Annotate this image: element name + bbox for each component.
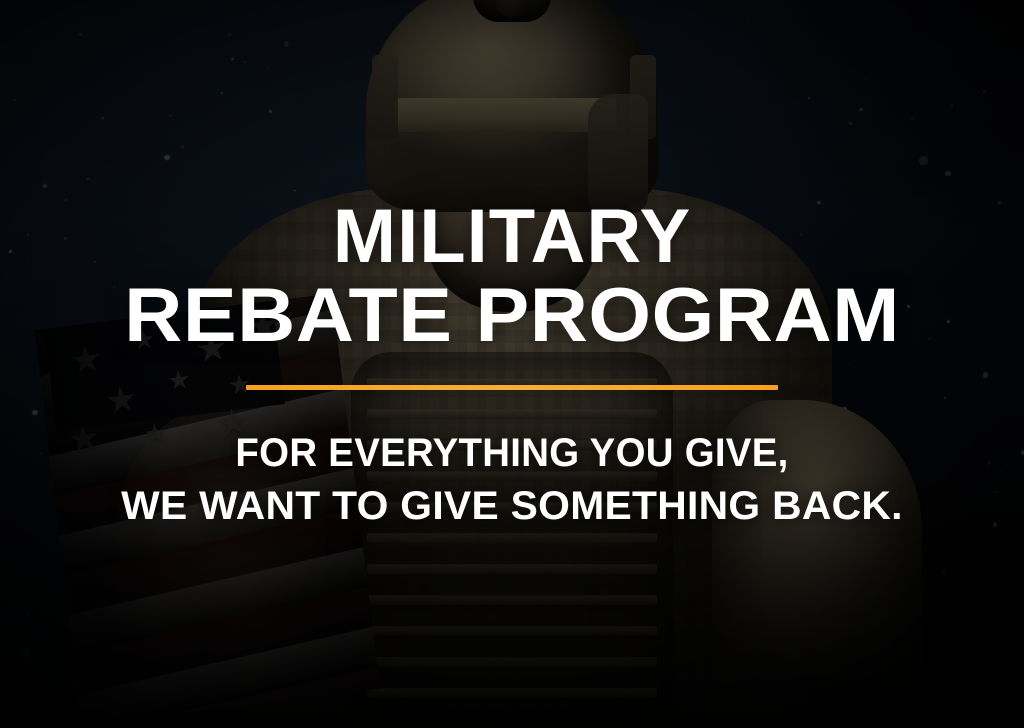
- hero-copy-block: MILITARY REBATE PROGRAM FOR EVERYTHING Y…: [0, 0, 1024, 728]
- subheadline-line-2: WE WANT TO GIVE SOMETHING BACK.: [0, 486, 1024, 526]
- subheadline-line-1: FOR EVERYTHING YOU GIVE,: [20, 433, 1003, 473]
- headline-line-1: MILITARY: [0, 201, 1024, 274]
- military-rebate-program-banner: ★★★★★★★★★★ MILITARY REBATE PROGRAM FOR E…: [0, 0, 1024, 728]
- orange-divider-rule: [246, 385, 778, 390]
- headline-line-2: REBATE PROGRAM: [0, 280, 1024, 353]
